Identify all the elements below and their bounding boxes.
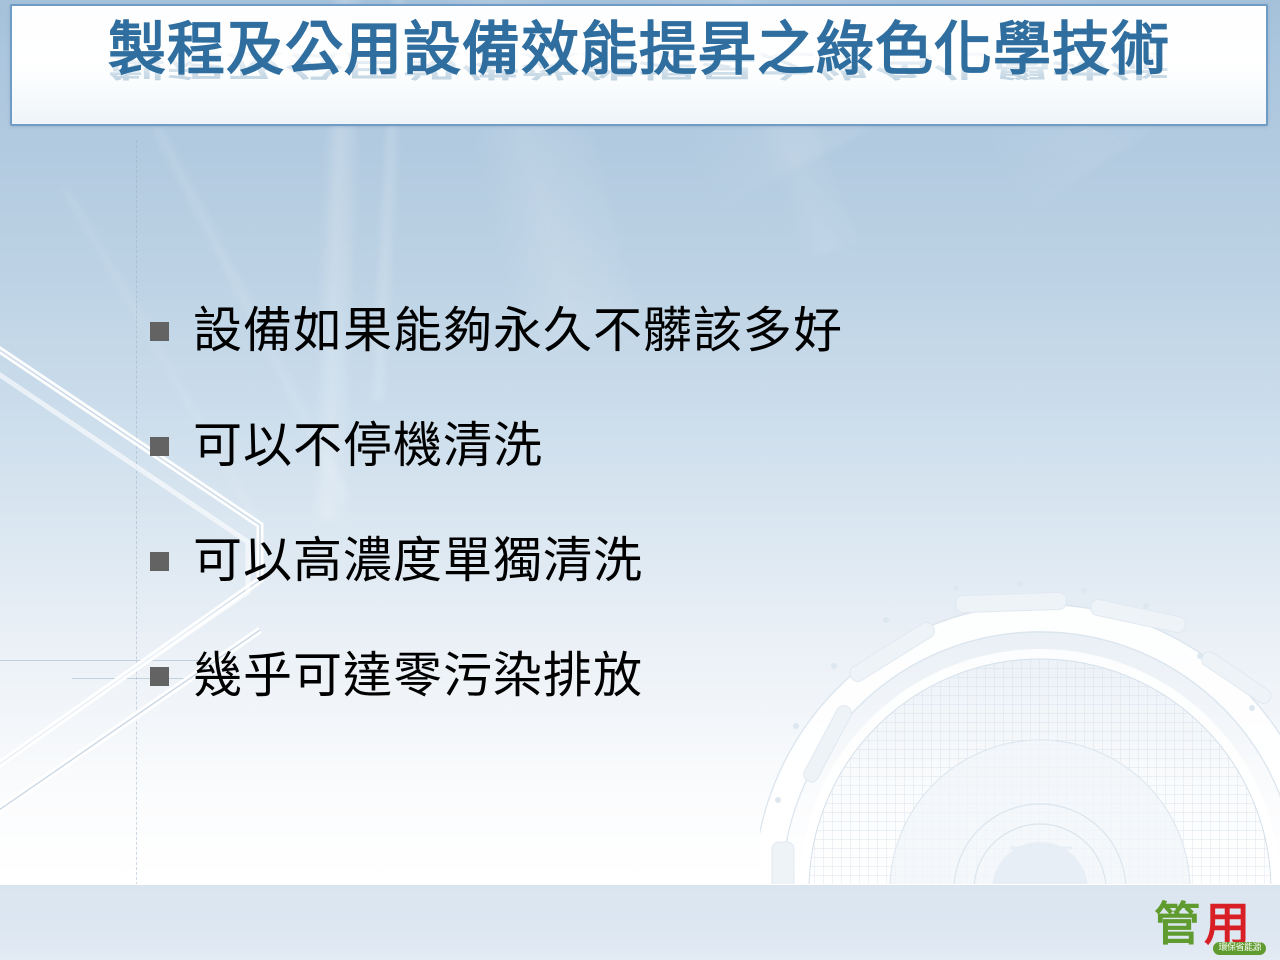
- list-item-label: 可以不停機清洗: [193, 415, 543, 477]
- square-bullet-icon: [150, 667, 169, 686]
- list-item-label: 設備如果能夠永久不髒該多好: [193, 300, 843, 362]
- logo-char-green: 管: [1154, 900, 1200, 948]
- brand-logo: 管 用 環保省能源: [1154, 900, 1266, 956]
- footer-band: [0, 884, 1280, 960]
- list-item: 設備如果能夠永久不髒該多好: [150, 300, 1130, 415]
- logo-char-red: 用: [1204, 900, 1250, 948]
- slide-title-box: 製程及公用設備效能提昇之綠色化學技術 製程及公用設備效能提昇之綠色化學技術: [10, 4, 1268, 126]
- bullet-list: 設備如果能夠永久不髒該多好 可以不停機清洗 可以高濃度單獨清洗 幾乎可達零污染排…: [150, 300, 1130, 760]
- list-item: 可以高濃度單獨清洗: [150, 530, 1130, 645]
- logo-tagline: 環保省能源: [1213, 942, 1266, 955]
- list-item: 幾乎可達零污染排放: [150, 645, 1130, 760]
- dashed-guide-line: [136, 140, 137, 885]
- page-title: 製程及公用設備效能提昇之綠色化學技術: [12, 16, 1266, 82]
- list-item-label: 可以高濃度單獨清洗: [193, 530, 643, 592]
- presentation-slide: 製程及公用設備效能提昇之綠色化學技術 製程及公用設備效能提昇之綠色化學技術 設備…: [0, 0, 1280, 960]
- square-bullet-icon: [150, 552, 169, 571]
- square-bullet-icon: [150, 437, 169, 456]
- list-item-label: 幾乎可達零污染排放: [193, 645, 643, 707]
- logo-characters: 管 用: [1154, 900, 1250, 948]
- square-bullet-icon: [150, 322, 169, 341]
- list-item: 可以不停機清洗: [150, 415, 1130, 530]
